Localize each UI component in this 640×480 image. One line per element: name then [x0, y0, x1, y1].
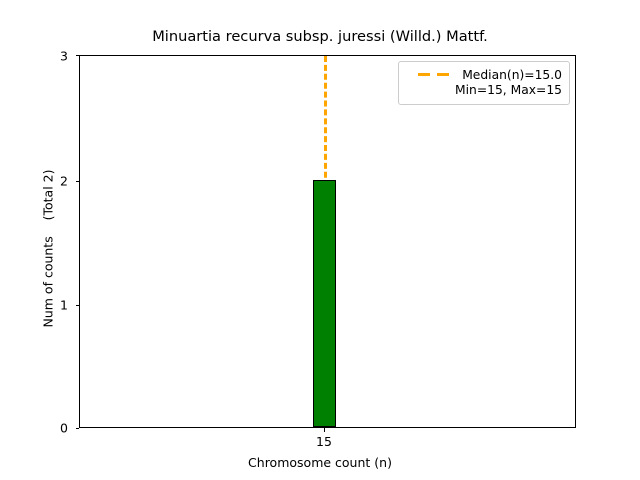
y-tick-label-2: 2: [60, 174, 68, 189]
plot-area: [79, 55, 576, 428]
dashed-line-icon: [417, 69, 453, 81]
x-tick-label-15: 15: [316, 434, 332, 449]
legend-entry-median: Median(n)=15.0: [406, 68, 562, 82]
legend: Median(n)=15.0 Min=15, Max=15: [398, 61, 570, 105]
bar-15[interactable]: [313, 180, 336, 427]
x-tick-mark-15: [324, 428, 325, 432]
x-axis-label: Chromosome count (n): [0, 455, 640, 470]
chart-figure: Minuartia recurva subsp. juressi (Willd.…: [0, 0, 640, 480]
legend-entry-minmax: Min=15, Max=15: [406, 83, 562, 97]
y-axis-label: Num of counts (Total 2): [41, 99, 56, 399]
legend-label-median: Median(n)=15.0: [462, 68, 562, 82]
y-tick-label-3: 3: [60, 49, 68, 64]
legend-label-minmax: Min=15, Max=15: [455, 83, 562, 97]
y-tick-label-0: 0: [60, 421, 68, 436]
plot-inner: [80, 56, 575, 427]
y-tick-mark-0: [76, 428, 80, 429]
chart-title: Minuartia recurva subsp. juressi (Willd.…: [0, 28, 640, 45]
y-tick-label-1: 1: [60, 297, 68, 312]
